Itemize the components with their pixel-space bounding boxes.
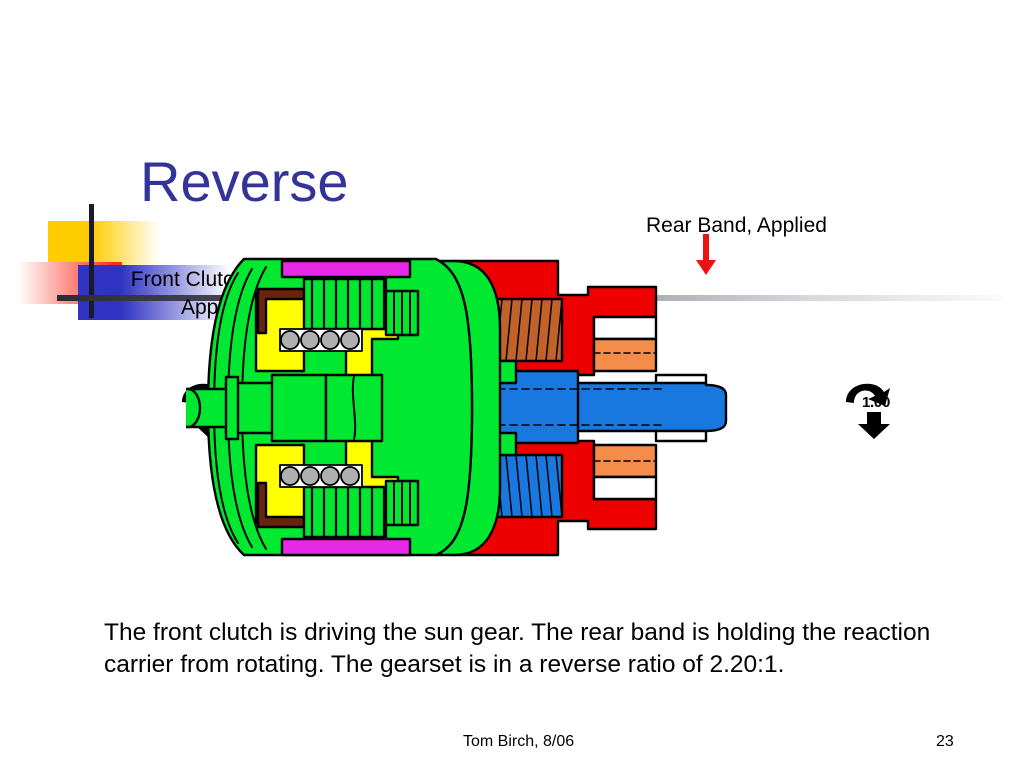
thrust-bearing-lower — [280, 465, 362, 487]
footer-page-number: 23 — [936, 733, 954, 751]
thrust-bearing-upper — [280, 329, 362, 351]
slide-canvas: Reverse Rear Band, Applied Front Clutch,… — [0, 0, 1024, 768]
page-title: Reverse — [140, 154, 349, 210]
body-paragraph: The front clutch is driving the sun gear… — [104, 617, 974, 682]
clutch-pack-upper — [304, 279, 386, 329]
footer-author: Tom Birch, 8/06 — [463, 733, 574, 751]
clutch-pack-mid-upper — [386, 291, 418, 335]
callout-rear-band-label: Rear Band, Applied — [646, 212, 827, 240]
clutch-pack-lower — [304, 487, 386, 537]
automatic-transmission-cutaway-diagram — [186, 243, 892, 573]
decoration-yellow-square — [48, 221, 160, 266]
clutch-pack-mid-lower — [386, 481, 418, 525]
shaft-collar — [226, 377, 238, 439]
